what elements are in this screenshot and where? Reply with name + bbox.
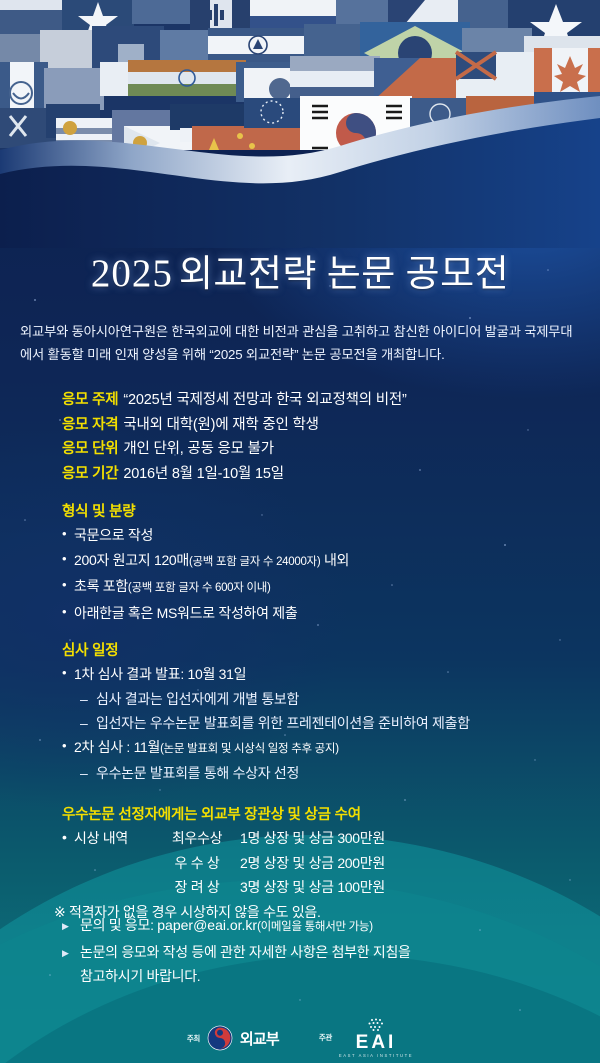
host-role-label: 주최 — [187, 1033, 200, 1044]
schedule-list: 1차 심사 결과 발표: 10월 31일 심사 결과는 입선자에게 개별 통보함… — [62, 662, 582, 785]
list-item-note: (논문 발표회 및 시상식 일정 추후 공지) — [160, 743, 339, 755]
list-subitem: 심사 결과는 입선자에게 개별 통보함 — [62, 687, 582, 711]
field-label: 응모 자격 — [62, 417, 123, 433]
field-value: 2016년 8월 1일-10월 15일 — [123, 466, 283, 482]
list-item: 200자 원고지 120매(공백 포함 글자 수 24000자) 내외 — [62, 548, 582, 575]
field-value: “2025년 국제정세 전망과 한국 외교정책의 비전” — [123, 392, 406, 408]
list-subitem: 우수논문 발표회를 통해 수상자 선정 — [62, 761, 582, 785]
prize-detail: 2명 상장 및 상금 200만원 — [240, 851, 385, 876]
intro-paragraph: 외교부와 동아시아연구원은 한국외교에 대한 비전과 관심을 고취하고 참신한 … — [20, 320, 582, 366]
format-list: 국문으로 작성 200자 원고지 120매(공백 포함 글자 수 24000자)… — [62, 523, 582, 625]
organizer-logo-unit: 주관 EAI EAST ASIA INSTITUTE — [319, 1018, 413, 1058]
organizer-name: EAI — [356, 1033, 397, 1052]
list-item: 국문으로 작성 — [62, 523, 582, 548]
prize-detail: 3명 상장 및 상금 100만원 — [240, 875, 385, 900]
prize-row: 장 려 상3명 상장 및 상금 100만원 — [62, 875, 582, 900]
host-logo-unit: 주최 외교부 — [187, 1025, 279, 1051]
prize-detail: 1명 상장 및 상금 300만원 — [240, 826, 385, 851]
poster-body: 응모 주제“2025년 국제정세 전망과 한국 외교정책의 비전” 응모 자격국… — [62, 388, 582, 924]
field-row: 응모 단위개인 단위, 공동 응모 불가 — [62, 437, 582, 462]
prize-name: 최우수상 — [154, 826, 240, 851]
bullet-icon: • — [62, 825, 67, 850]
list-item-text: 국문으로 작성 — [74, 527, 153, 543]
eai-dots-icon — [365, 1018, 387, 1032]
prize-row: • 시상 내역 최우수상1명 상장 및 상금 300만원 — [62, 826, 582, 851]
field-label: 응모 단위 — [62, 441, 123, 457]
contact-list: 문의 및 응모: paper@eai.or.kr(이메일을 통해서만 가능) 논… — [62, 913, 582, 989]
list-item-note: (공백 포함 글자 수 600자 이내) — [128, 582, 271, 594]
contact-note: (이메일을 통해서만 가능) — [257, 921, 373, 933]
list-item: 2차 심사 : 11월(논문 발표회 및 시상식 일정 추후 공지) — [62, 735, 582, 762]
field-row: 응모 자격국내외 대학(원)에 재학 중인 학생 — [62, 413, 582, 438]
host-name: 외교부 — [240, 1028, 279, 1049]
list-item-note: (공백 포함 글자 수 24000자) — [189, 556, 320, 568]
contact-label: 문의 및 응모: — [80, 917, 157, 933]
list-item-text: 초록 포함 — [74, 578, 128, 594]
title-main: 외교전략 논문 공모전 — [179, 254, 509, 295]
page-title: 2025외교전략 논문 공모전 — [0, 243, 600, 297]
list-item: 1차 심사 결과 발표: 10월 31일 — [62, 662, 582, 687]
list-item-text: 200자 원고지 120매 — [74, 552, 189, 568]
section-heading-format: 형식 및 분량 — [62, 500, 582, 521]
list-item-text: 우수논문 발표회를 통해 수상자 선정 — [96, 765, 299, 781]
email-address[interactable]: paper@eai.or.kr — [157, 917, 257, 933]
title-year: 2025 — [91, 252, 179, 295]
field-value: 국내외 대학(원)에 재학 중인 학생 — [123, 417, 318, 433]
taegeuk-icon — [207, 1025, 233, 1051]
list-subitem: 입선자는 우수논문 발표회를 위한 프레젠테이션을 준비하여 제출함 — [62, 711, 582, 735]
contact-label-line2: 참고하시기 바랍니다. — [80, 968, 200, 984]
organizer-subtitle: EAST ASIA INSTITUTE — [339, 1054, 413, 1058]
poster: 2025외교전략 논문 공모전 외교부와 동아시아연구원은 한국외교에 대한 비… — [0, 0, 600, 1063]
section-heading-schedule: 심사 일정 — [62, 639, 582, 660]
list-item: 아래한글 혹은 MS워드로 작성하여 제출 — [62, 601, 582, 626]
list-item-text: 입선자는 우수논문 발표회를 위한 프레젠테이션을 준비하여 제출함 — [96, 715, 470, 731]
contact-label: 논문의 응모와 작성 등에 관한 자세한 사항은 첨부한 지침을 — [80, 944, 411, 960]
contact-item-email: 문의 및 응모: paper@eai.or.kr(이메일을 통해서만 가능) — [62, 913, 582, 940]
list-item-text: 1차 심사 결과 발표: 10월 31일 — [74, 666, 246, 682]
list-item-text: 2차 심사 : 11월 — [74, 739, 160, 755]
wave-divider — [0, 88, 600, 248]
list-item-text: 아래한글 혹은 MS워드로 작성하여 제출 — [74, 605, 297, 621]
footer-logos: 주최 외교부 주관 EAI — [0, 1014, 600, 1062]
organizer-role-label: 주관 — [319, 1032, 332, 1043]
field-label: 응모 기간 — [62, 466, 123, 482]
prize-row: 우 수 상2명 상장 및 상금 200만원 — [62, 851, 582, 876]
prize-name: 우 수 상 — [154, 851, 240, 876]
section-heading-awards: 우수논문 선정자에게는 외교부 장관상 및 상금 수여 — [62, 803, 582, 824]
list-item-text: 심사 결과는 입선자에게 개별 통보함 — [96, 691, 299, 707]
field-value: 개인 단위, 공동 응모 불가 — [123, 441, 274, 457]
field-label: 응모 주제 — [62, 392, 123, 408]
contact-item-guideline: 논문의 응모와 작성 등에 관한 자세한 사항은 첨부한 지침을 참고하시기 바… — [62, 940, 582, 989]
list-item-tail: 내외 — [320, 552, 349, 568]
list-item: 초록 포함(공백 포함 글자 수 600자 이내) — [62, 574, 582, 601]
field-row: 응모 주제“2025년 국제정세 전망과 한국 외교정책의 비전” — [62, 388, 582, 413]
prize-name: 장 려 상 — [154, 875, 240, 900]
field-row: 응모 기간2016년 8월 1일-10월 15일 — [62, 462, 582, 487]
prize-list-label: 시상 내역 — [74, 830, 128, 846]
